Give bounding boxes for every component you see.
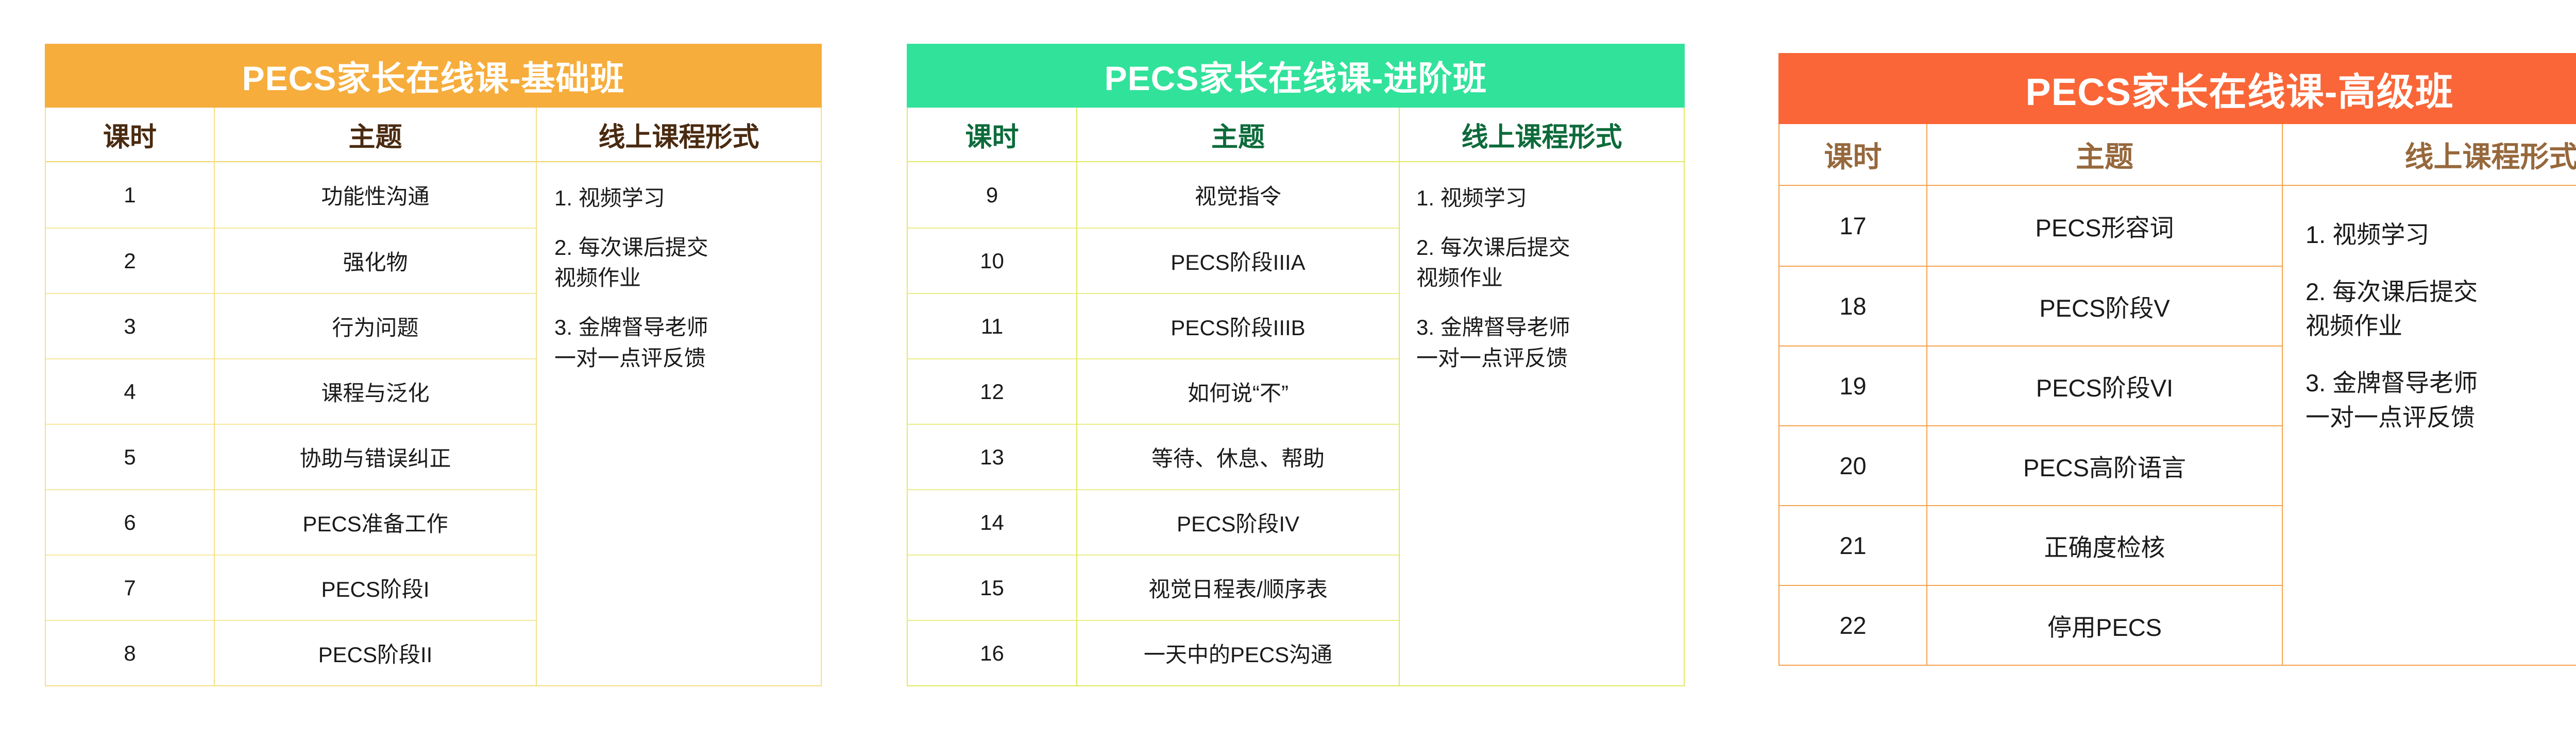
course-table-basic-grid: 课时 1 2 3 4 5 6 7 8 主题 功能性沟通 强化物 行为问题 课程与… [45,108,822,686]
table-row: 视觉日程表/顺序表 [1077,555,1399,620]
table-row: 12 [908,358,1076,424]
course-table-basic-title: PECS家长在线课-基础班 [45,44,822,108]
table-row: 课程与泛化 [215,358,536,424]
table-row: 18 [1780,266,1926,345]
column-header-session: 课时 [1780,124,1926,186]
table-row: 6 [46,489,214,555]
column-topic: 主题 功能性沟通 强化物 行为问题 课程与泛化 协助与错误纠正 PECS准备工作… [214,108,536,685]
column-header-format: 线上课程形式 [2283,124,2576,186]
column-header-topic: 主题 [1077,108,1399,162]
table-row: 5 [46,424,214,489]
table-row: 13 [908,424,1076,489]
column-topic: 主题 视觉指令 PECS阶段IIIA PECS阶段IIIB 如何说“不” 等待、… [1076,108,1399,685]
table-row: 如何说“不” [1077,358,1399,424]
table-row: 7 [46,555,214,620]
table-row: PECS阶段V [1927,266,2282,345]
course-table-advanced-title: PECS家长在线课-高级班 [1778,53,2576,124]
column-session: 课时 17 18 19 20 21 22 [1780,124,1926,665]
table-row: 3 [46,293,214,358]
table-row: 16 [908,620,1076,685]
column-header-session: 课时 [46,108,214,162]
table-row: PECS阶段VI [1927,345,2282,425]
column-format: 线上课程形式 1. 视频学习 2. 每次课后提交 视频作业 3. 金牌督导老师 … [2282,124,2576,665]
column-header-format: 线上课程形式 [1400,108,1684,162]
table-row: 14 [908,489,1076,555]
table-row: 10 [908,228,1076,293]
table-row: 11 [908,293,1076,358]
column-session: 课时 9 10 11 12 13 14 15 16 [908,108,1076,685]
format-item: 2. 每次课后提交 视频作业 [554,232,805,293]
column-header-format: 线上课程形式 [537,108,821,162]
table-row: PECS形容词 [1927,186,2282,266]
table-row: 等待、休息、帮助 [1077,424,1399,489]
table-row: 19 [1780,345,1926,425]
course-table-intermediate-title: PECS家长在线课-进阶班 [907,44,1685,108]
column-header-topic: 主题 [215,108,536,162]
table-row: 停用PECS [1927,585,2282,665]
column-session: 课时 1 2 3 4 5 6 7 8 [46,108,214,685]
format-list: 1. 视频学习 2. 每次课后提交 视频作业 3. 金牌督导老师 一对一点评反馈 [537,162,821,685]
table-row: 8 [46,620,214,685]
format-item: 3. 金牌督导老师 一对一点评反馈 [2306,366,2576,435]
course-table-basic: PECS家长在线课-基础班 课时 1 2 3 4 5 6 7 8 主题 功能性沟… [45,44,822,686]
format-item: 1. 视频学习 [1416,183,1669,214]
table-row: 一天中的PECS沟通 [1077,620,1399,685]
course-table-intermediate: PECS家长在线课-进阶班 课时 9 10 11 12 13 14 15 16 … [907,44,1685,686]
table-row: 22 [1780,585,1926,665]
format-item: 3. 金牌督导老师 一对一点评反馈 [1416,312,1669,373]
format-item: 2. 每次课后提交 视频作业 [2306,275,2576,343]
column-header-topic: 主题 [1927,124,2282,186]
course-table-advanced: PECS家长在线课-高级班 课时 17 18 19 20 21 22 主题 PE… [1778,53,2576,666]
table-row: 15 [908,555,1076,620]
table-row: 行为问题 [215,293,536,358]
column-header-session: 课时 [908,108,1076,162]
format-item: 2. 每次课后提交 视频作业 [1416,232,1669,293]
table-row: 20 [1780,425,1926,505]
table-row: 17 [1780,186,1926,266]
table-row: 协助与错误纠正 [215,424,536,489]
table-row: 21 [1780,505,1926,585]
table-row: 视觉指令 [1077,162,1399,228]
table-row: PECS阶段IIIB [1077,293,1399,358]
table-row: 正确度检核 [1927,505,2282,585]
table-row: 1 [46,162,214,228]
format-list: 1. 视频学习 2. 每次课后提交 视频作业 3. 金牌督导老师 一对一点评反馈 [1400,162,1684,685]
column-topic: 主题 PECS形容词 PECS阶段V PECS阶段VI PECS高阶语言 正确度… [1926,124,2282,665]
table-row: PECS阶段IIIA [1077,228,1399,293]
course-schedule-board: PECS家长在线课-基础班 课时 1 2 3 4 5 6 7 8 主题 功能性沟… [0,0,2576,744]
table-row: 9 [908,162,1076,228]
column-format: 线上课程形式 1. 视频学习 2. 每次课后提交 视频作业 3. 金牌督导老师 … [536,108,821,685]
table-row: PECS准备工作 [215,489,536,555]
table-row: 强化物 [215,228,536,293]
table-row: PECS阶段I [215,555,536,620]
course-table-intermediate-grid: 课时 9 10 11 12 13 14 15 16 主题 视觉指令 PECS阶段… [907,108,1685,686]
table-row: 4 [46,358,214,424]
table-row: 2 [46,228,214,293]
format-item: 1. 视频学习 [554,183,805,214]
table-row: PECS阶段II [215,620,536,685]
format-item: 3. 金牌督导老师 一对一点评反馈 [554,312,805,373]
format-list: 1. 视频学习 2. 每次课后提交 视频作业 3. 金牌督导老师 一对一点评反馈 [2283,186,2576,665]
course-table-advanced-grid: 课时 17 18 19 20 21 22 主题 PECS形容词 PECS阶段V … [1778,124,2576,666]
table-row: PECS高阶语言 [1927,425,2282,505]
table-row: PECS阶段IV [1077,489,1399,555]
format-item: 1. 视频学习 [2306,218,2576,252]
table-row: 功能性沟通 [215,162,536,228]
column-format: 线上课程形式 1. 视频学习 2. 每次课后提交 视频作业 3. 金牌督导老师 … [1399,108,1684,685]
